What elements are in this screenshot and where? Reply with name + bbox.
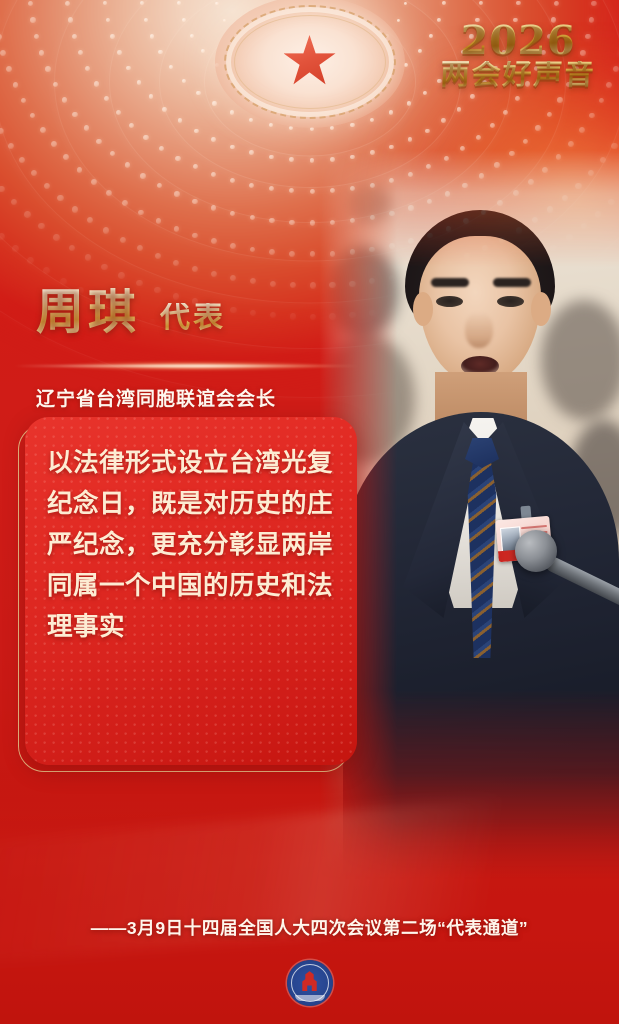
- ceiling-dot: [150, 34, 154, 38]
- ceiling-dot: [404, 2, 408, 6]
- ceiling-dot: [106, 18, 111, 23]
- ceiling-dot: [269, 218, 275, 224]
- ceiling-dot: [223, 19, 227, 23]
- ceiling-dot: [44, 183, 50, 189]
- ceiling-dot: [211, 205, 217, 211]
- ceiling-dot: [120, 237, 126, 243]
- ceiling-dot: [215, 2, 219, 6]
- ceiling-dot: [104, 96, 109, 101]
- ceiling-dot: [250, 215, 256, 221]
- ceiling-dot: [397, 19, 401, 23]
- ceiling-dot: [591, 1, 597, 7]
- ceiling-dot: [547, 112, 553, 118]
- ceiling-dot: [129, 123, 134, 128]
- ceiling-dot: [72, 206, 78, 212]
- ceiling-dot: [230, 211, 236, 217]
- ceiling-dot: [194, 129, 199, 134]
- ceiling-dot: [190, 34, 194, 38]
- ceiling-dot: [249, 150, 254, 155]
- ceiling-dot: [34, 34, 40, 40]
- ceiling-dot: [211, 271, 217, 277]
- ceiling-dot: [201, 49, 205, 53]
- ceiling-dot: [289, 344, 296, 351]
- ceiling-dot: [310, 158, 315, 163]
- ceiling-dot: [118, 272, 125, 279]
- speaker-ear-left: [413, 292, 433, 326]
- ceiling-dot: [211, 238, 217, 244]
- ceiling-dot: [122, 200, 128, 206]
- ceiling-dot: [51, 141, 57, 147]
- ceiling-dot: [11, 199, 18, 206]
- ceiling-dot: [43, 267, 50, 274]
- ceiling-dot: [156, 218, 162, 224]
- speaker-role: 代表: [160, 303, 226, 336]
- ceiling-dot: [269, 249, 275, 255]
- speaker-name-line: 周琪 代表: [36, 288, 226, 336]
- ceiling-dot: [0, 34, 2, 40]
- ceiling-dot: [157, 183, 163, 189]
- ceiling-dot: [38, 223, 45, 230]
- ceiling-dot: [476, 135, 481, 140]
- ceiling-dot: [63, 154, 69, 160]
- ceiling-dot: [230, 145, 235, 150]
- speaker-name-block: 周琪 代表 辽宁省台湾同胞联谊会会长: [36, 288, 226, 336]
- ceiling-dot: [110, 151, 116, 157]
- ceiling-dot: [516, 1, 521, 6]
- ceiling-dot: [250, 247, 256, 253]
- ceiling-dot: [248, 341, 255, 348]
- ceiling-dot: [159, 146, 164, 151]
- ceiling-dot: [212, 101, 216, 105]
- poster-canvas: 2026 两会好声音 周琪 代表 辽宁省台湾同胞联谊会会长 以法律形式设立台湾光…: [0, 0, 619, 1024]
- ceiling-dot: [91, 179, 97, 185]
- ceiling-dot: [230, 307, 237, 314]
- ceiling-dot: [68, 17, 73, 22]
- ceiling-dot: [249, 183, 254, 188]
- ceiling-dot: [270, 312, 277, 319]
- ceiling-dot: [192, 199, 198, 205]
- ceiling-dot: [230, 243, 236, 249]
- ceiling-dot: [85, 66, 90, 71]
- ceiling-dot: [77, 167, 83, 173]
- ceiling-dot: [158, 50, 162, 54]
- ceiling-dot: [178, 118, 183, 123]
- ceiling-dot: [40, 127, 46, 133]
- ceiling-dot: [6, 66, 12, 72]
- ceiling-dot: [24, 211, 31, 218]
- ceiling-dot: [408, 137, 413, 142]
- ceiling-dot: [196, 91, 200, 95]
- background-camera: [347, 184, 391, 222]
- ceiling-dot: [389, 110, 393, 114]
- ceiling-dot: [8, 143, 14, 149]
- logo-year: 2026: [428, 22, 607, 60]
- ceiling-dot: [19, 157, 25, 163]
- ceiling-rosette: [215, 0, 405, 128]
- ceiling-dot: [101, 264, 108, 271]
- ceiling-dot: [72, 112, 78, 118]
- ceiling-dot: [174, 191, 180, 197]
- ceiling-dot: [404, 63, 408, 67]
- ceiling-dot: [389, 145, 394, 150]
- logo-title: 两会好声音: [428, 61, 608, 90]
- ceiling-dot: [13, 82, 19, 88]
- npc-emblem-icon: [287, 960, 333, 1006]
- ceiling-dot: [249, 118, 253, 122]
- ceiling-dot: [96, 139, 102, 145]
- ceiling-dot: [138, 210, 144, 216]
- ceiling-dot: [310, 251, 316, 257]
- ceiling-dot: [149, 94, 154, 99]
- ceiling-dot: [418, 49, 422, 53]
- ceiling-dot: [289, 188, 294, 193]
- ceiling-dot: [57, 195, 63, 201]
- ceiling-dot: [0, 186, 5, 193]
- background-person-right: [541, 300, 619, 420]
- ceiling-dot: [310, 282, 316, 288]
- ceiling-dot: [228, 338, 235, 345]
- ceiling-dot: [350, 123, 354, 127]
- ceiling-dot: [310, 314, 317, 321]
- divider-light-streak: [14, 360, 360, 372]
- speaker-organization: 辽宁省台湾同胞联谊会会长: [36, 384, 276, 411]
- ceiling-dot: [269, 123, 273, 127]
- ceiling-dot: [87, 217, 93, 223]
- background-person-left: [325, 246, 399, 338]
- ceiling-dot: [192, 233, 198, 239]
- ceiling-dot: [69, 245, 76, 252]
- ceiling-dot: [490, 123, 495, 128]
- ceiling-dot: [155, 253, 161, 259]
- speaker-brow-left: [431, 278, 469, 287]
- badge-line-1: [521, 525, 547, 529]
- ceiling-dot: [479, 1, 483, 5]
- ceiling-dot: [250, 278, 256, 284]
- ceiling-dot: [606, 82, 612, 88]
- ceiling-dot: [310, 189, 315, 194]
- ceiling-dot: [230, 275, 236, 281]
- ceiling-dot: [78, 50, 83, 55]
- ceiling-dot: [289, 157, 294, 162]
- ceiling-dot: [39, 50, 45, 56]
- ceiling-dot: [53, 234, 60, 241]
- ceiling-dot: [53, 82, 59, 88]
- ceiling-dot: [310, 345, 317, 352]
- ceiling-dot: [407, 101, 411, 105]
- ceiling-dot: [28, 1, 34, 7]
- ceiling-dot: [62, 97, 68, 103]
- ceiling-dot: [523, 139, 529, 145]
- ceiling-dot: [290, 282, 296, 288]
- ceiling-dot: [290, 313, 297, 320]
- quote-card-body: 以法律形式设立台湾光复纪念日，既是对历史的庄严纪念，更充分彰显两岸同属一个中国的…: [25, 417, 357, 765]
- ceiling-dot: [289, 251, 295, 257]
- ceiling-dot: [289, 220, 295, 226]
- ceiling-dot: [568, 141, 574, 147]
- ceiling-dot: [370, 118, 374, 122]
- ceiling-dot: [21, 98, 27, 104]
- ceiling-dot: [175, 156, 180, 161]
- speaker-eye-right: [497, 296, 524, 307]
- ceiling-dot: [162, 107, 167, 112]
- ceiling-dot: [94, 81, 99, 86]
- ceiling-dot: [310, 220, 316, 226]
- ceiling-dot: [0, 50, 6, 56]
- ceiling-dot: [599, 98, 605, 104]
- ceiling-dot: [192, 266, 198, 272]
- ceiling-dot: [103, 1, 108, 6]
- ceiling-dot: [173, 260, 179, 266]
- ceiling-dot: [72, 34, 77, 39]
- ceiling-dot: [126, 66, 131, 71]
- speaker-name: 周琪: [36, 288, 140, 336]
- ceiling-dot: [177, 1, 181, 5]
- ceiling-dot: [250, 310, 257, 317]
- footer-caption: ——3月9日十四届全国人大四次会议第二场“代表通道”: [0, 915, 619, 940]
- ceiling-dot: [103, 227, 109, 233]
- ceiling-dot: [30, 17, 36, 23]
- ceiling-dot: [425, 129, 430, 134]
- ceiling-dot: [193, 164, 198, 169]
- ceiling-dot: [211, 137, 216, 142]
- ceiling-dot: [211, 172, 216, 177]
- ceiling-dot: [144, 18, 148, 22]
- ceiling-dot: [45, 66, 51, 72]
- ceiling-dot: [515, 96, 520, 101]
- ceiling-dot: [470, 94, 475, 99]
- ceiling-dot: [0, 128, 4, 134]
- ceiling-dot: [65, 1, 70, 6]
- ceiling-dot: [503, 110, 508, 115]
- ceiling-dot: [535, 125, 541, 131]
- ceiling-dot: [589, 113, 595, 119]
- ceiling-dot: [27, 257, 34, 264]
- ceiling-dot: [613, 66, 619, 72]
- ceiling-dot: [579, 127, 585, 133]
- speaker-eye-left: [436, 296, 463, 307]
- ceiling-dot: [85, 254, 92, 261]
- quote-card: 以法律形式设立台湾光复纪念日，既是对历史的庄严纪念，更充分彰显两岸同属一个中国的…: [18, 424, 350, 772]
- ceiling-dot: [140, 173, 146, 179]
- ceiling-dot: [117, 50, 122, 55]
- microphone-icon: [515, 530, 557, 572]
- ceiling-dot: [182, 18, 186, 22]
- ceiling-dot: [269, 343, 276, 350]
- ceiling-dot: [137, 80, 142, 85]
- ceiling-dot: [30, 113, 36, 119]
- ceiling-dot: [457, 107, 462, 112]
- speaker-nose: [465, 312, 493, 348]
- emblem-base-arc: [295, 995, 325, 1001]
- ceiling-dot: [106, 190, 112, 196]
- ceiling-dot: [269, 155, 274, 160]
- ceiling-dot: [137, 245, 143, 251]
- ceiling-dot: [12, 245, 19, 252]
- speaker-brow-right: [493, 278, 531, 287]
- ceiling-dot: [140, 1, 144, 5]
- ceiling-dot: [611, 143, 617, 149]
- program-logo: 2026 两会好声音: [429, 22, 607, 90]
- ceiling-dot: [174, 226, 180, 232]
- speaker-ear-right: [531, 292, 551, 326]
- ceiling-dot: [31, 170, 37, 176]
- quote-text: 以法律形式设立台湾光复纪念日，既是对历史的庄严纪念，更充分彰显两岸同属一个中国的…: [47, 443, 339, 648]
- ceiling-dot: [557, 97, 563, 103]
- ceiling-dot: [270, 281, 276, 287]
- ceiling-dot: [230, 178, 235, 183]
- ceiling-dot: [442, 1, 446, 5]
- ceiling-dot: [169, 65, 173, 69]
- ceiling-dot: [423, 91, 427, 95]
- ceiling-dot: [84, 125, 90, 131]
- ceiling-dot: [125, 162, 131, 168]
- ceiling-dot: [0, 233, 5, 240]
- ceiling-dot: [182, 79, 186, 83]
- ceiling-dot: [143, 135, 148, 140]
- ceiling-dot: [230, 110, 234, 114]
- ceiling-dot: [116, 110, 121, 115]
- ceiling-dot: [269, 186, 274, 191]
- ceiling-dot: [441, 118, 446, 123]
- speaker-photo: [319, 150, 619, 880]
- ceiling-dot: [330, 126, 334, 130]
- ceiling-dot: [110, 34, 115, 39]
- ceiling-dot: [554, 1, 559, 6]
